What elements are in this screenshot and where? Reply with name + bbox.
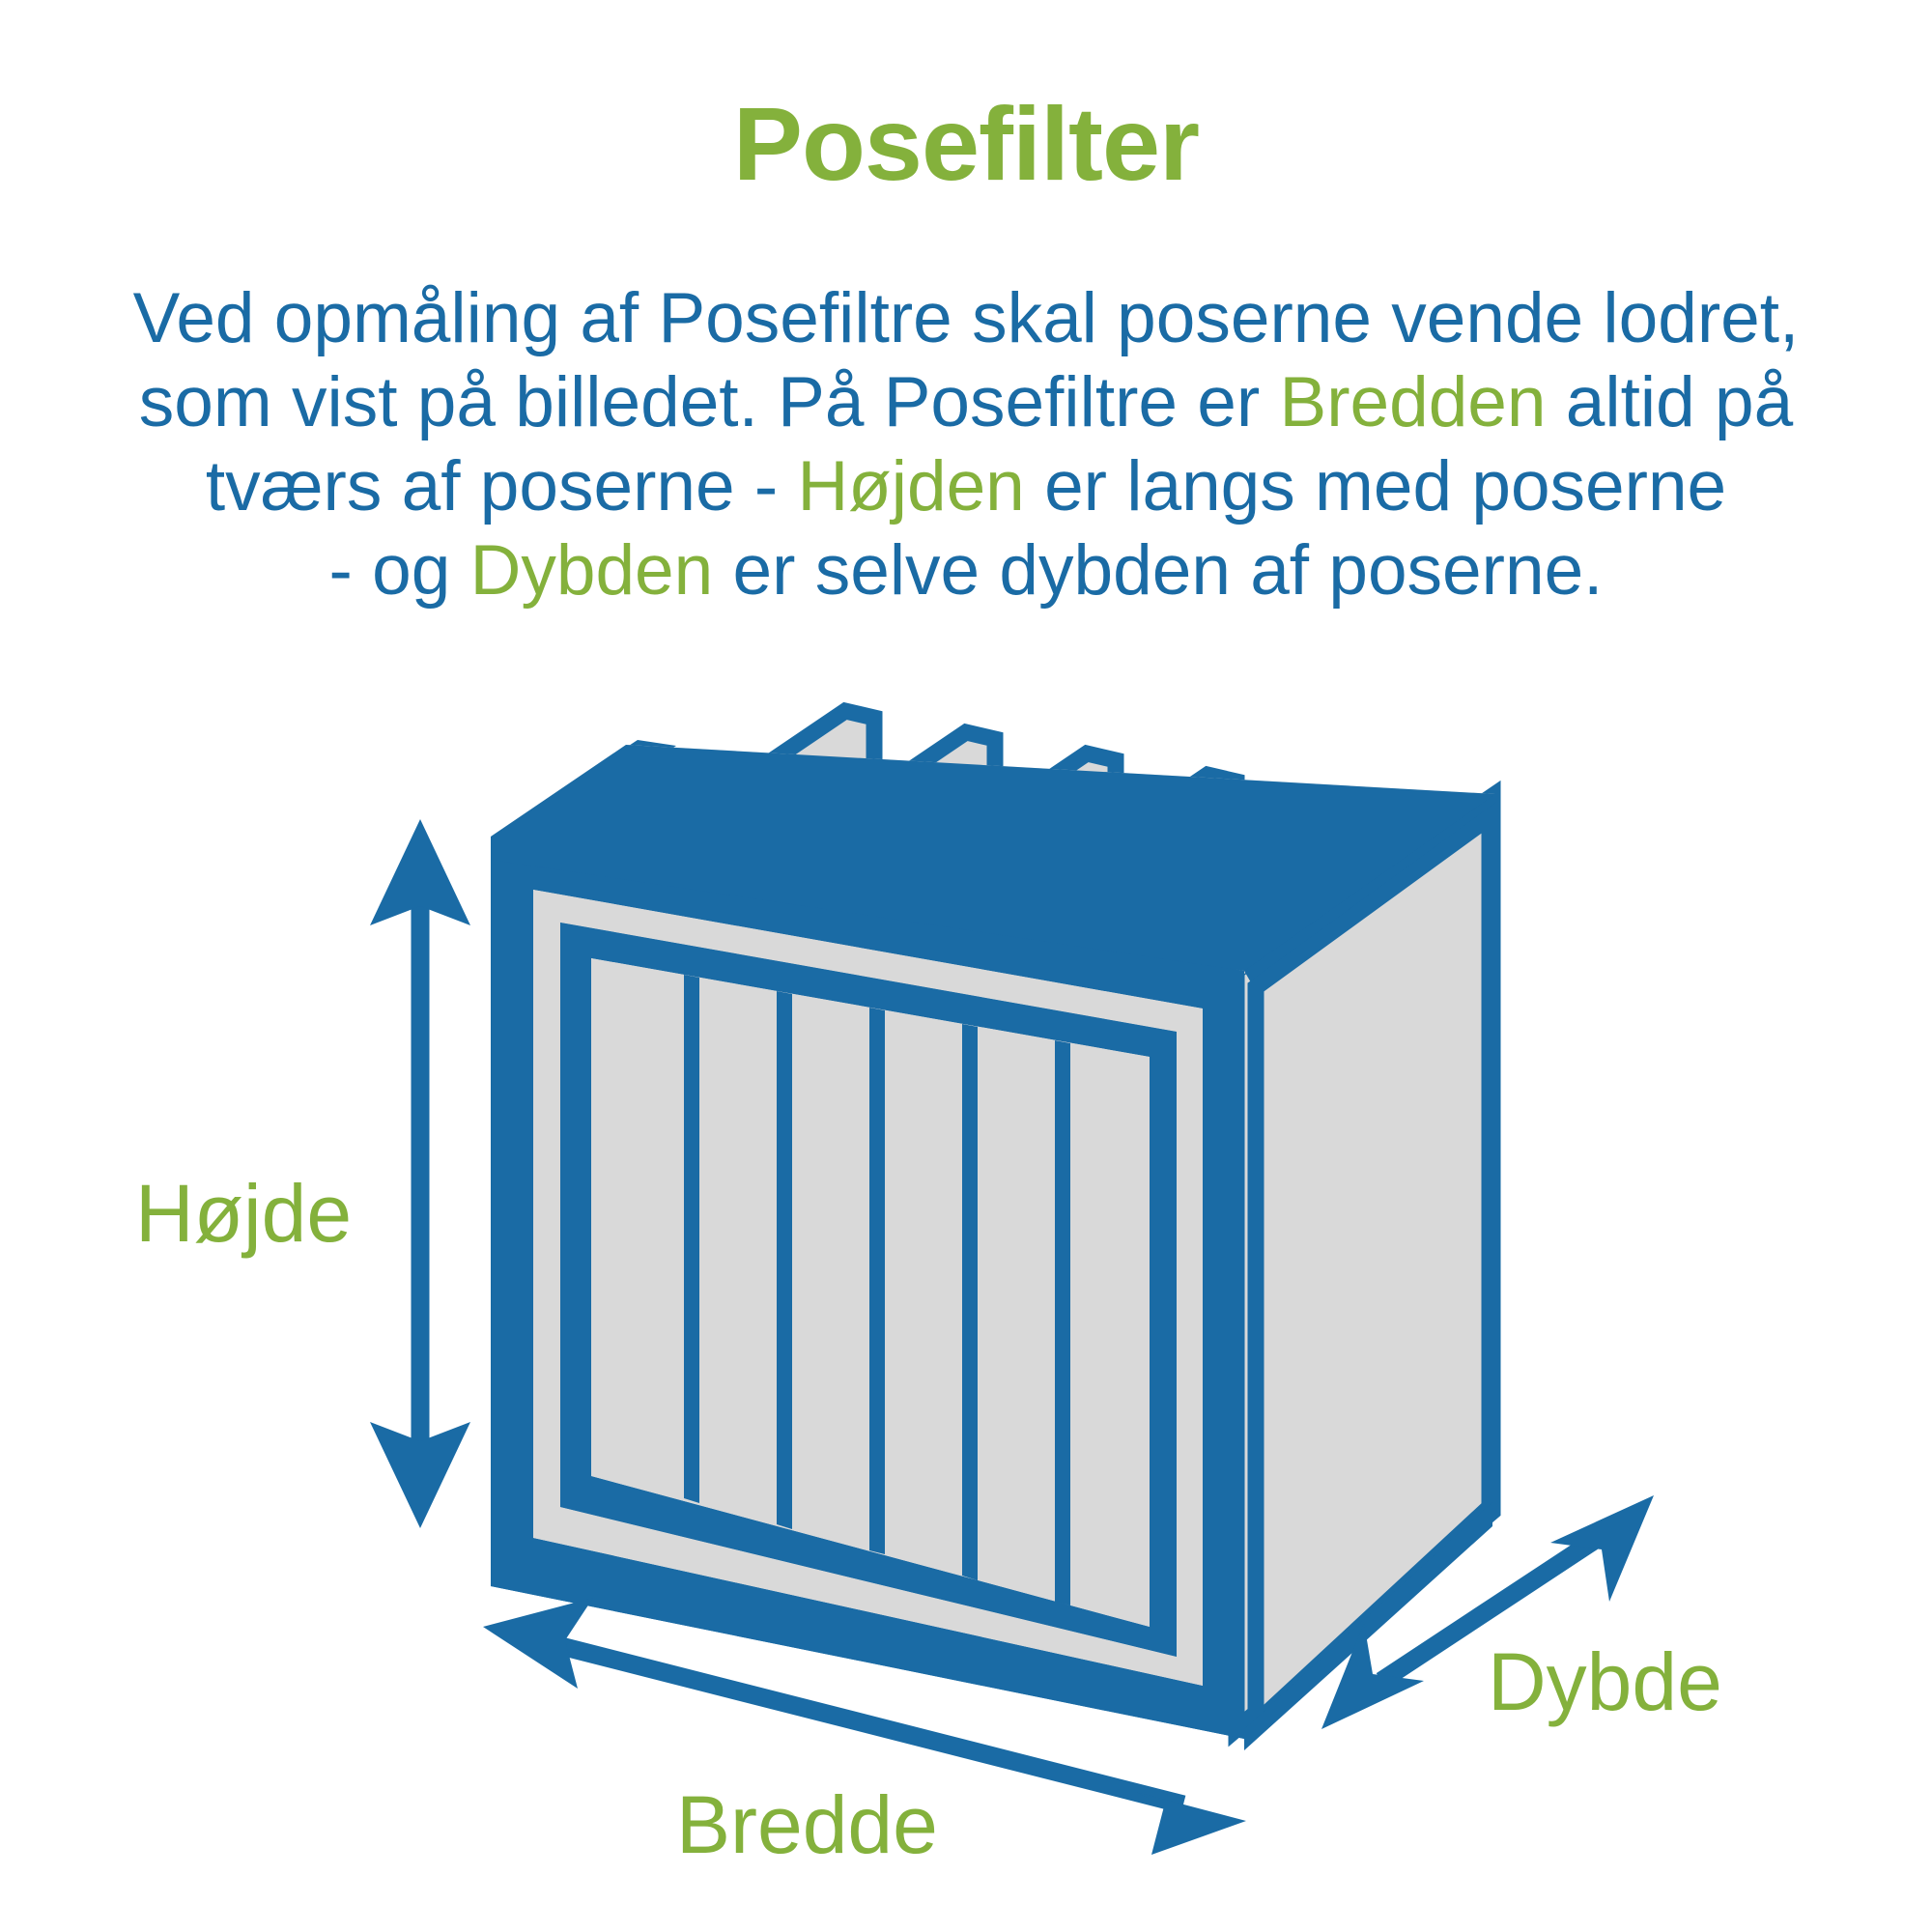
bag-filter-diagram: Højde Bredde Dybde bbox=[0, 0, 1932, 1932]
height-arrow bbox=[370, 819, 470, 1528]
filter-front-frame-overlay bbox=[491, 837, 1244, 1739]
height-label: Højde bbox=[135, 1168, 352, 1259]
right-side-panel-body bbox=[1256, 817, 1490, 1723]
poster-root: Posefilter Ved opmåling af Posefiltre sk… bbox=[0, 0, 1932, 1932]
width-label: Bredde bbox=[676, 1779, 938, 1870]
depth-label: Dybde bbox=[1488, 1636, 1722, 1727]
